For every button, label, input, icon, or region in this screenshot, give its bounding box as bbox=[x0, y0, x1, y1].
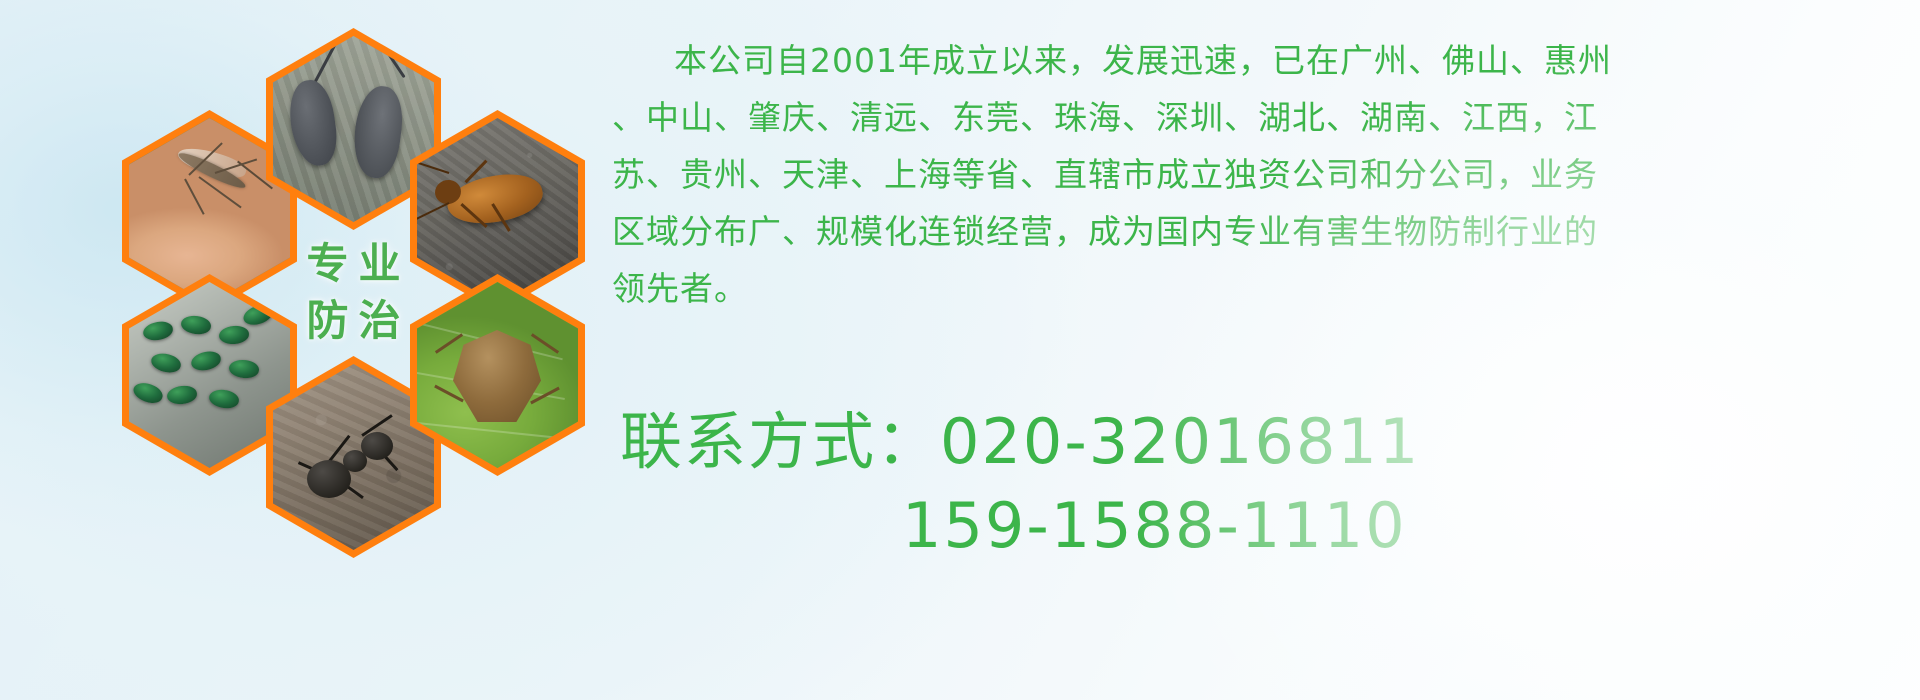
fly bbox=[142, 320, 175, 343]
contact-phone-landline[interactable]: 联系方式：020-32016811 bbox=[620, 400, 1920, 484]
slogan-block: 专业 防治 bbox=[266, 192, 441, 394]
description-line-4: 区域分布广、规模化连锁经营，成为国内专业有害生物防制行业的 bbox=[612, 203, 1902, 260]
description-line-3: 苏、贵州、天津、上海等省、直辖市成立独资公司和分公司，业务 bbox=[612, 146, 1902, 203]
leaf-vein bbox=[417, 422, 566, 440]
description-line-2: 、中山、肇庆、清远、东莞、珠海、深圳、湖北、湖南、江西，江 bbox=[612, 89, 1902, 146]
slogan-line-2: 防治 bbox=[296, 293, 410, 350]
slogan-line-1: 专业 bbox=[296, 236, 410, 293]
fly bbox=[180, 314, 212, 336]
fly bbox=[166, 384, 198, 405]
fly bbox=[208, 388, 241, 411]
ant-head bbox=[361, 432, 393, 460]
company-description: 本公司自2001年成立以来，发展迅速，已在广州、佛山、惠州 、中山、肇庆、清远、… bbox=[612, 32, 1902, 317]
hex-inner-stinkbug bbox=[417, 282, 578, 468]
honeycomb-image-cluster: 专业 防治 bbox=[80, 0, 600, 560]
stinkbug-photo bbox=[417, 282, 578, 468]
fly bbox=[189, 349, 222, 373]
fly bbox=[131, 379, 165, 406]
promotional-banner: 专业 防治 本公司自2001年成立以来，发展迅速，已在广州、佛山、惠州 、中山、… bbox=[0, 0, 1920, 700]
fly bbox=[149, 351, 182, 376]
contact-phone-mobile[interactable]: 159-1588-1110 bbox=[620, 484, 1920, 568]
description-line-1: 本公司自2001年成立以来，发展迅速，已在广州、佛山、惠州 bbox=[612, 32, 1902, 89]
mosquito-leg bbox=[184, 179, 205, 215]
contact-block: 联系方式：020-32016811 159-1588-1110 bbox=[620, 400, 1920, 568]
fly bbox=[218, 325, 249, 345]
stinkbug-body bbox=[453, 330, 541, 422]
fly bbox=[228, 358, 260, 379]
description-line-5: 领先者。 bbox=[612, 260, 1902, 317]
